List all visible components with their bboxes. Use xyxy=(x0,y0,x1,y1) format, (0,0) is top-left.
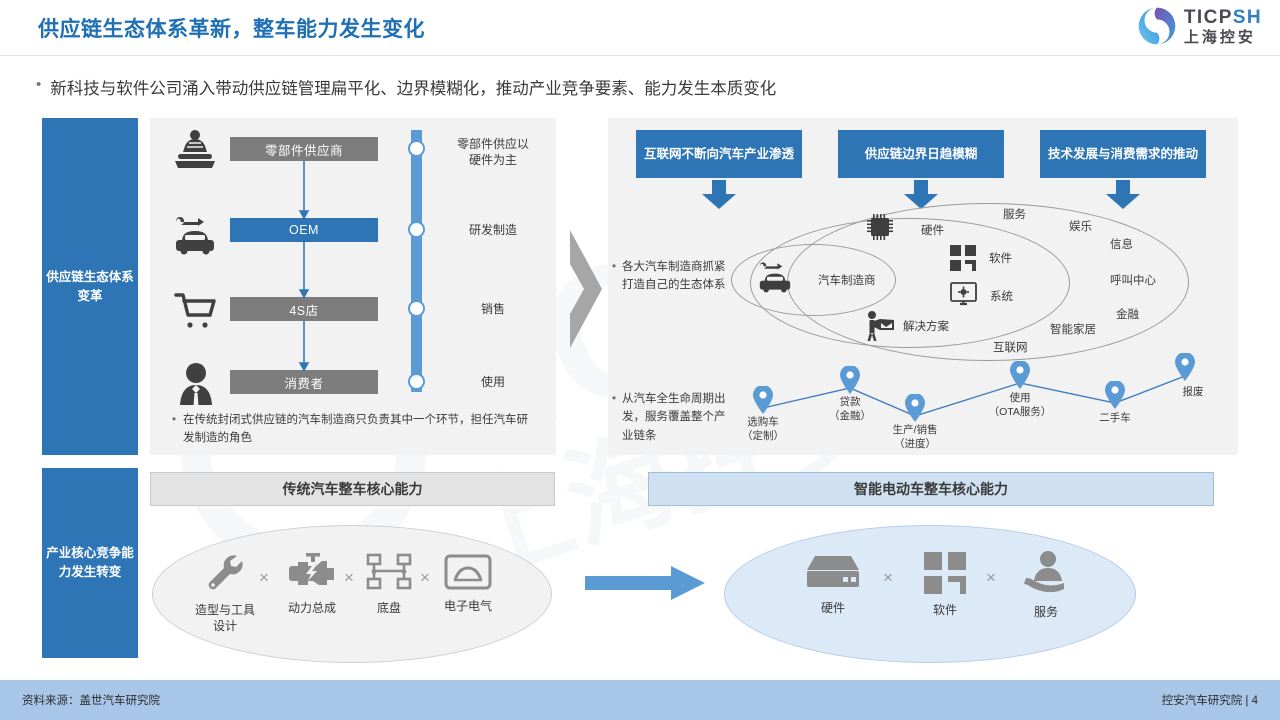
flow-box-consumer: 消费者 xyxy=(230,370,378,394)
logo-text-primary: TICP xyxy=(1184,7,1233,28)
capability-item-label: 造型与工具 设计 xyxy=(177,603,273,634)
ecu-icon xyxy=(444,554,492,590)
swirl-logo-icon xyxy=(1137,6,1177,46)
ring-label-system: 系统 xyxy=(990,288,1013,304)
logo-text-secondary: SH xyxy=(1233,7,1262,28)
stage-label-rnd: 研发制造 xyxy=(438,222,548,238)
ring-label-hardware: 硬件 xyxy=(921,222,944,238)
ring-label-finance: 金融 xyxy=(1116,306,1139,322)
sidebar-label-core-capability: 产业核心竞争能力发生转变 xyxy=(42,468,138,658)
shopping-cart-icon xyxy=(172,290,218,332)
capability-item-label: 电子电气 xyxy=(420,599,516,615)
down-arrow-icon xyxy=(702,180,736,210)
bullet-ecosystem-building: • 各大汽车制造商抓紧打造自己的生态体系 xyxy=(612,258,734,295)
stage-label-sales: 销售 xyxy=(438,301,548,317)
map-pin-icon xyxy=(753,386,773,414)
rail-node xyxy=(408,221,425,238)
service-hand-icon xyxy=(1022,550,1070,596)
rail-node xyxy=(408,300,425,317)
apps-grid-icon xyxy=(950,245,976,271)
timeline-label-scrap: 报废 xyxy=(1150,386,1236,400)
tag-label: 技术发展与消费需求的推动 xyxy=(1048,146,1198,163)
capability-header-traditional: 传统汽车整车核心能力 xyxy=(150,472,555,506)
map-pin-icon xyxy=(905,394,925,422)
rail-node xyxy=(408,140,425,157)
bullet-icon: • xyxy=(172,412,176,448)
ring-label-service: 服务 xyxy=(1003,206,1026,222)
tag-internet-penetration: 互联网不断向汽车产业渗透 xyxy=(636,130,802,178)
stage-label-text: 销售 xyxy=(481,302,505,316)
footer-source: 资料来源：盖世汽车研究院 xyxy=(22,692,160,708)
car-wrench-icon xyxy=(755,258,795,294)
rail-node xyxy=(408,373,425,390)
lifecycle-timeline: 选购车 （定制） 贷款 （金融） 生产/销售 （进度） 使用 （OTA服务） 二… xyxy=(725,358,1225,448)
stage-rail xyxy=(411,130,422,392)
map-pin-icon xyxy=(1010,361,1030,389)
flow-connectors xyxy=(230,161,378,373)
slide-root: TICPSH 上海控安 供应链生态体系革新，整车能力发生变化 TICPSH xyxy=(0,0,1280,720)
bullet-text: 各大汽车制造商抓紧打造自己的生态体系 xyxy=(622,258,734,295)
down-arrow-icon xyxy=(1106,180,1140,210)
stage-label-text: 零部件供应以 硬件为主 xyxy=(457,137,529,167)
brand-logo: TICPSH 上海控安 xyxy=(1137,6,1262,46)
timeline-label-used-car: 二手车 xyxy=(1072,412,1158,426)
timeline-label-production: 生产/销售 （进度） xyxy=(872,424,958,451)
map-pin-icon xyxy=(1105,381,1125,409)
monitor-gear-icon xyxy=(950,282,977,308)
presenter-icon xyxy=(864,310,896,342)
capability-item-label: 软件 xyxy=(897,603,993,619)
hardware-box-icon xyxy=(805,552,861,592)
factory-icon xyxy=(172,128,218,172)
subtitle: • 新科技与软件公司涌入带动供应链管理扁平化、边界模糊化，推动产业竞争要素、能力… xyxy=(36,75,1136,99)
bullet-icon: • xyxy=(612,390,616,445)
transition-chevron-icon xyxy=(568,228,608,350)
logo-text-cn: 上海控安 xyxy=(1184,30,1262,45)
capability-item-electronics: 电子电气 xyxy=(420,554,516,615)
ring-label-information: 信息 xyxy=(1110,236,1133,252)
flow-box-label: 消费者 xyxy=(284,373,323,392)
ring-label-software: 软件 xyxy=(989,250,1012,266)
bullet-icon: • xyxy=(612,258,616,295)
wrench-icon xyxy=(204,552,246,594)
flow-box-label: 零部件供应商 xyxy=(265,140,343,159)
flow-box-supplier: 零部件供应商 xyxy=(230,137,378,161)
capability-header-text: 传统汽车整车核心能力 xyxy=(283,479,423,499)
ring-label-manufacturer: 汽车制造商 xyxy=(818,272,876,288)
sidebar-label-text: 供应链生态体系变革 xyxy=(42,268,138,306)
capability-item-software: 软件 xyxy=(897,552,993,619)
ring-label-solution: 解决方案 xyxy=(903,318,949,334)
sidebar-label-text: 产业核心竞争能力发生转变 xyxy=(42,544,138,582)
tag-blurred-boundary: 供应链边界日趋模糊 xyxy=(838,130,1004,178)
capability-item-service: 服务 xyxy=(998,550,1094,621)
map-pin-icon xyxy=(840,366,860,394)
capability-header-smart-ev: 智能电动车整车核心能力 xyxy=(648,472,1214,506)
tag-label: 互联网不断向汽车产业渗透 xyxy=(644,146,794,163)
capability-item-label: 服务 xyxy=(998,605,1094,621)
ring-label-entertainment: 娱乐 xyxy=(1069,218,1092,234)
stage-label-text: 使用 xyxy=(481,375,505,389)
apps-grid-icon xyxy=(924,552,966,594)
right-arrow-icon xyxy=(585,566,705,600)
traditional-note: • 在传统封闭式供应链的汽车制造商只负责其中一个环节，担任汽车研发制造的角色 xyxy=(172,412,532,448)
stage-label-usage: 使用 xyxy=(438,374,548,390)
capability-item-label: 硬件 xyxy=(785,601,881,617)
multiply-icon: × xyxy=(986,568,996,588)
timeline-label-purchase: 选购车 （定制） xyxy=(720,416,806,443)
subtitle-text: 新科技与软件公司涌入带动供应链管理扁平化、边界模糊化，推动产业竞争要素、能力发生… xyxy=(50,75,776,99)
map-pin-icon xyxy=(1175,353,1195,381)
header-divider xyxy=(0,55,1280,56)
capability-item-hardware: 硬件 xyxy=(785,552,881,617)
ring-label-internet: 互联网 xyxy=(993,339,1028,355)
person-icon xyxy=(176,362,216,408)
bullet-icon: • xyxy=(36,75,41,99)
car-wrench-icon xyxy=(170,212,220,256)
page-title: 供应链生态体系革新，整车能力发生变化 xyxy=(38,13,425,43)
stage-label-supply: 零部件供应以 硬件为主 xyxy=(438,136,548,168)
tag-label: 供应链边界日趋模糊 xyxy=(865,146,978,163)
timeline-label-usage: 使用 （OTA服务） xyxy=(977,392,1063,419)
ring-label-smart-home: 智能家居 xyxy=(1050,321,1096,337)
engine-icon xyxy=(288,552,336,592)
footer-page: 控安汽车研究院 | 4 xyxy=(1162,692,1258,708)
multiply-icon: × xyxy=(883,568,893,588)
capability-item-design: 造型与工具 设计 xyxy=(177,552,273,634)
footer: 资料来源：盖世汽车研究院 控安汽车研究院 | 4 xyxy=(0,680,1280,720)
timeline-label-loan: 贷款 （金融） xyxy=(807,396,893,423)
chassis-icon xyxy=(365,552,413,592)
chip-icon xyxy=(866,212,894,242)
bullet-lifecycle-service: • 从汽车全生命周期出发，服务覆盖整个产业链条 xyxy=(612,390,734,445)
tag-tech-demand: 技术发展与消费需求的推动 xyxy=(1040,130,1206,178)
traditional-note-text: 在传统封闭式供应链的汽车制造商只负责其中一个环节，担任汽车研发制造的角色 xyxy=(183,412,532,448)
stage-label-text: 研发制造 xyxy=(469,223,517,237)
ring-label-call-center: 呼叫中心 xyxy=(1110,272,1156,288)
capability-header-text: 智能电动车整车核心能力 xyxy=(854,479,1008,499)
bullet-text: 从汽车全生命周期出发，服务覆盖整个产业链条 xyxy=(622,390,734,445)
sidebar-label-supply-chain: 供应链生态体系变革 xyxy=(42,118,138,455)
